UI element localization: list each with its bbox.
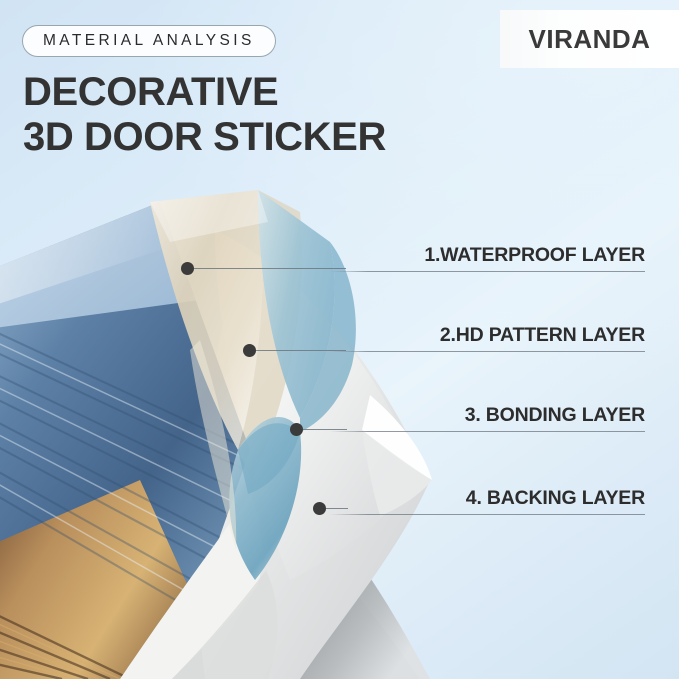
- callout-rule-3: [330, 431, 645, 432]
- callout-rule-2: [330, 351, 645, 352]
- brand-logo: VIRANDA: [500, 10, 679, 68]
- material-analysis-badge: MATERIAL ANALYSIS: [22, 25, 276, 57]
- callout-label-1: 1.WATERPROOF LAYER: [330, 246, 645, 266]
- badge-label: MATERIAL ANALYSIS: [43, 32, 255, 50]
- poster-canvas: 1.WATERPROOF LAYER 2.HD PATTERN LAYER 3.…: [0, 0, 679, 679]
- page-title: DECORATIVE 3D DOOR STICKER: [23, 70, 386, 160]
- callout-dot-4: [313, 502, 326, 515]
- callout-1: 1.WATERPROOF LAYER: [330, 246, 645, 272]
- callout-label-2: 2.HD PATTERN LAYER: [330, 326, 645, 346]
- callout-4: 4. BACKING LAYER: [330, 489, 645, 515]
- callout-rule-1: [330, 271, 645, 272]
- callout-dot-2: [243, 344, 256, 357]
- callout-rule-4: [330, 514, 645, 515]
- callout-2: 2.HD PATTERN LAYER: [330, 326, 645, 352]
- callout-dot-1: [181, 262, 194, 275]
- brand-name: VIRANDA: [529, 24, 651, 55]
- callout-dot-3: [290, 423, 303, 436]
- callout-label-3: 3. BONDING LAYER: [330, 406, 645, 426]
- leader-line-1: [194, 268, 346, 269]
- callout-3: 3. BONDING LAYER: [330, 406, 645, 432]
- callout-label-4: 4. BACKING LAYER: [330, 489, 645, 509]
